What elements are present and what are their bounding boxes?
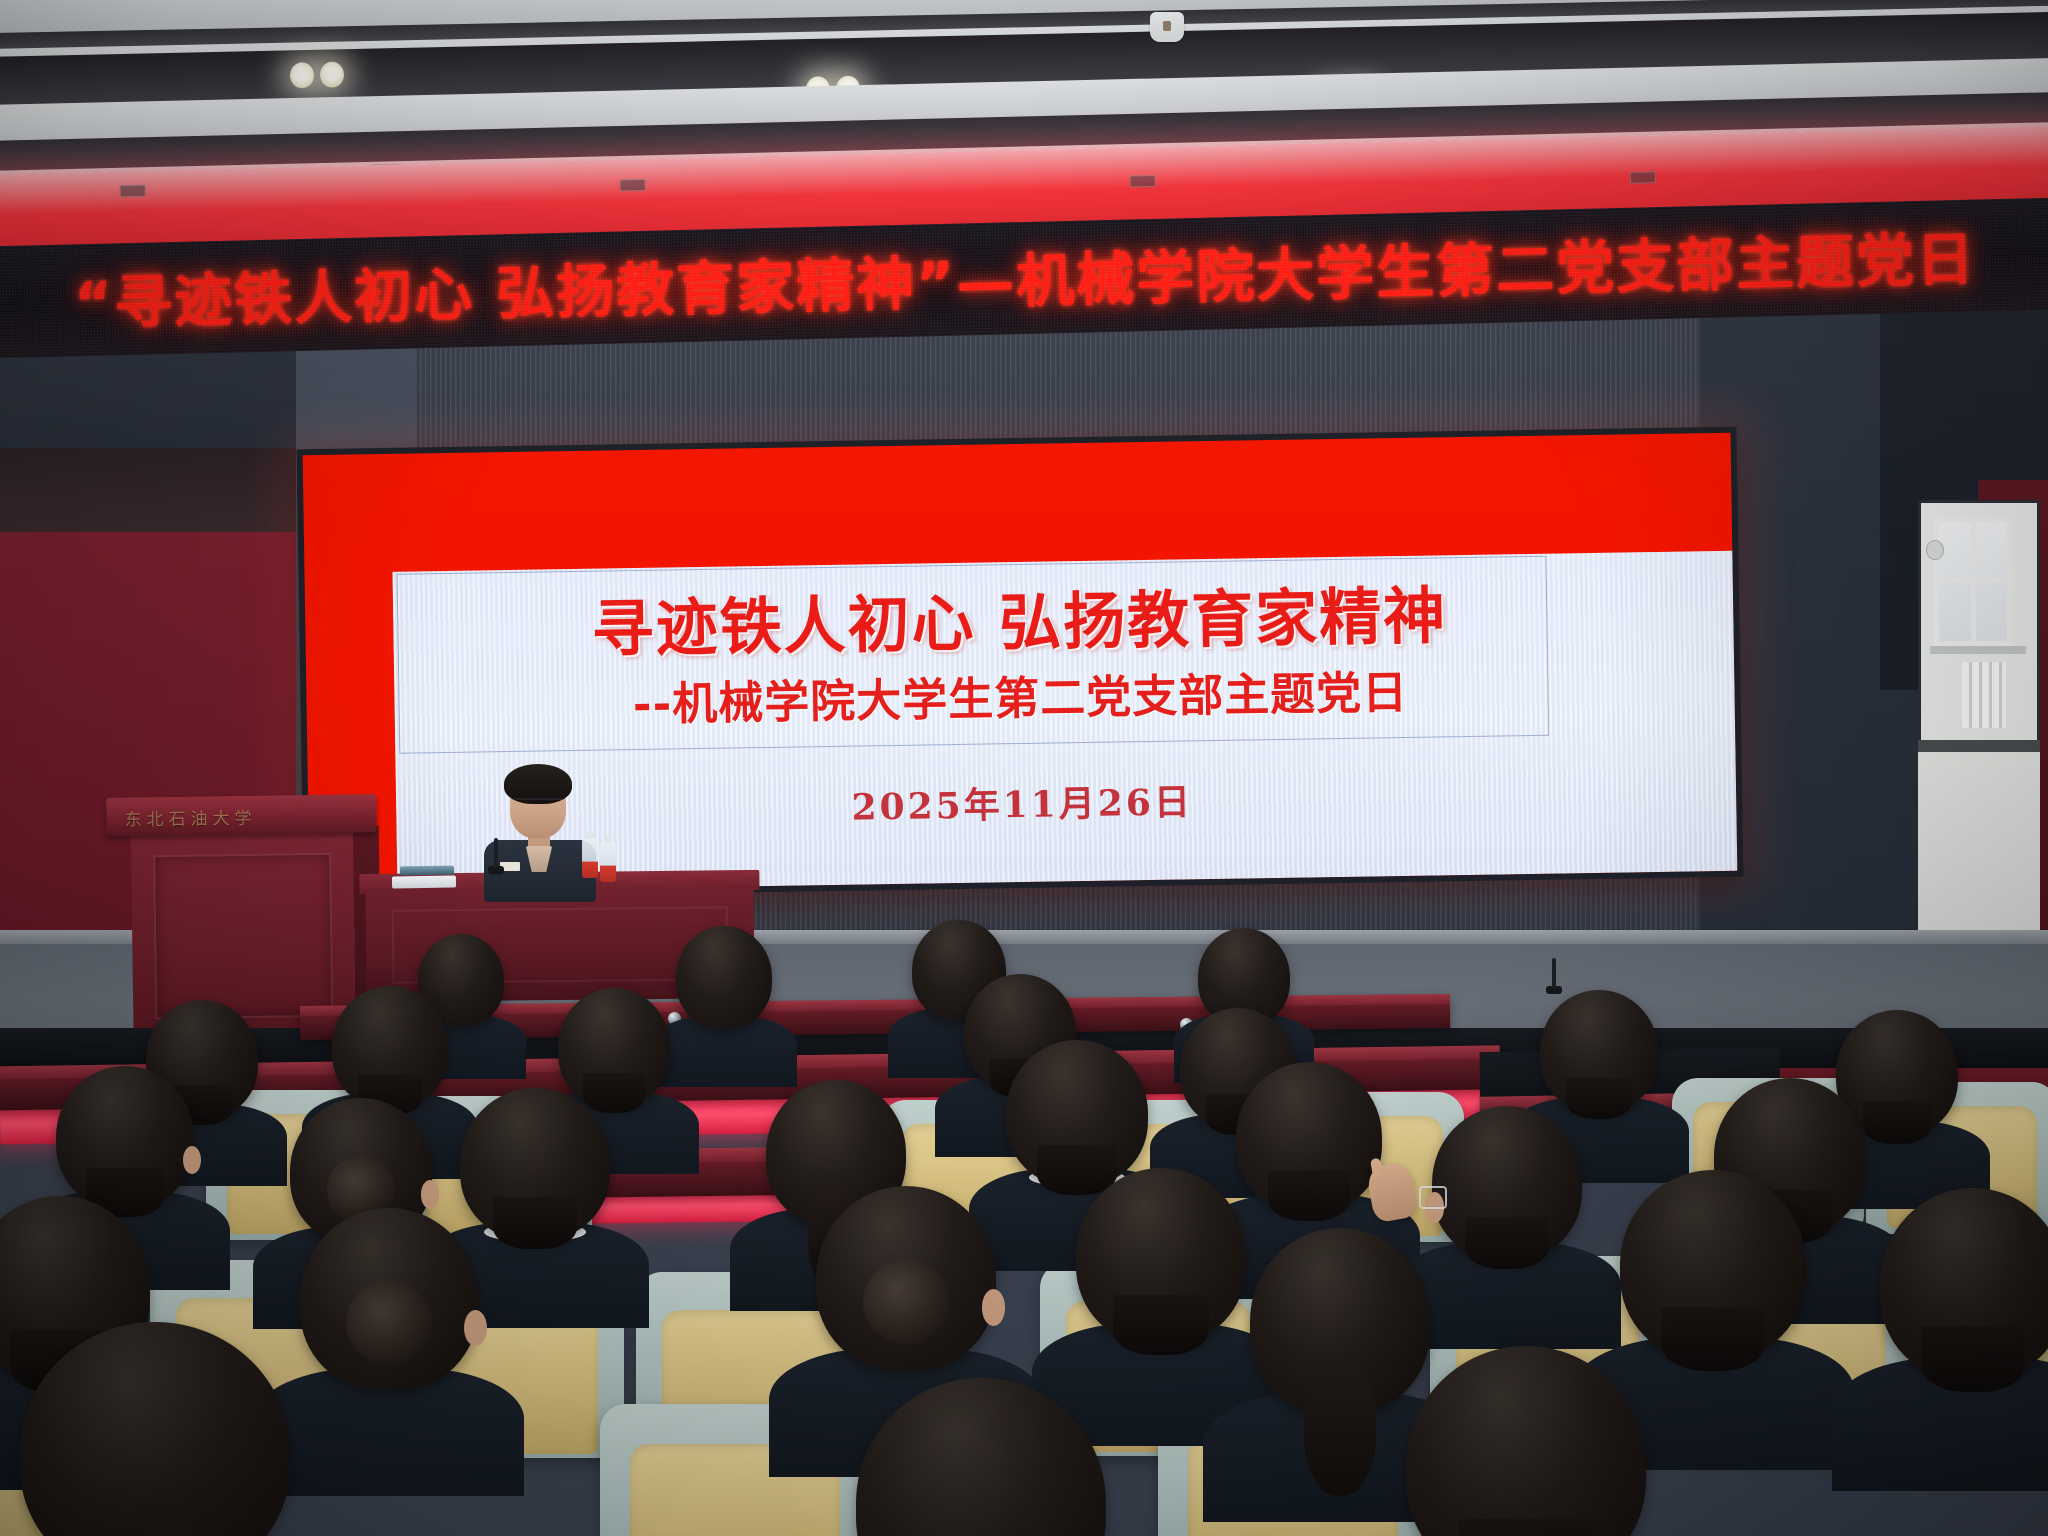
wall-shadow-band — [0, 448, 300, 536]
audience-person — [460, 1088, 610, 1240]
water-bottle — [600, 842, 616, 882]
audience-person — [1076, 1168, 1246, 1344]
audience-person-foreground — [856, 1378, 1106, 1536]
audience-person — [56, 1066, 194, 1208]
audience-person — [332, 986, 448, 1108]
audience-person — [1236, 1062, 1382, 1212]
audience-person-foreground — [1406, 1346, 1646, 1536]
audience-person — [1250, 1228, 1430, 1414]
radiator — [1962, 662, 2006, 728]
glasses-icon — [514, 798, 562, 809]
window — [1934, 518, 2012, 646]
doorway — [1918, 500, 2040, 970]
smoke-detector-icon — [1150, 12, 1184, 42]
audience-person — [1006, 1040, 1148, 1186]
papers — [392, 875, 456, 888]
window-sill — [1930, 646, 2026, 654]
audience-person-bun — [816, 1186, 996, 1370]
laptop — [400, 866, 454, 876]
ceiling-spotlight-pair — [290, 59, 349, 90]
water-bottle — [582, 838, 598, 878]
wall-sign-icon — [1926, 540, 1944, 560]
audience-person-bun — [300, 1208, 478, 1390]
podium-emblem-text: 东北石油大学 — [124, 803, 324, 828]
microphone — [488, 866, 504, 874]
podium-top: 东北石油大学 — [106, 794, 377, 836]
audience-person-glasses — [1432, 1106, 1582, 1260]
audience-person — [676, 926, 772, 1028]
audience-person-foreground — [20, 1322, 290, 1536]
audience-person — [1880, 1188, 2048, 1380]
audience-person — [1620, 1170, 1806, 1360]
audience-person — [1540, 990, 1658, 1112]
baseboard — [1918, 740, 2040, 752]
auditorium-photo: “寻迹铁人初心 弘扬教育家精神”—机械学院大学生第二党支部主题党日 寻迹铁人初心… — [0, 0, 2048, 1536]
